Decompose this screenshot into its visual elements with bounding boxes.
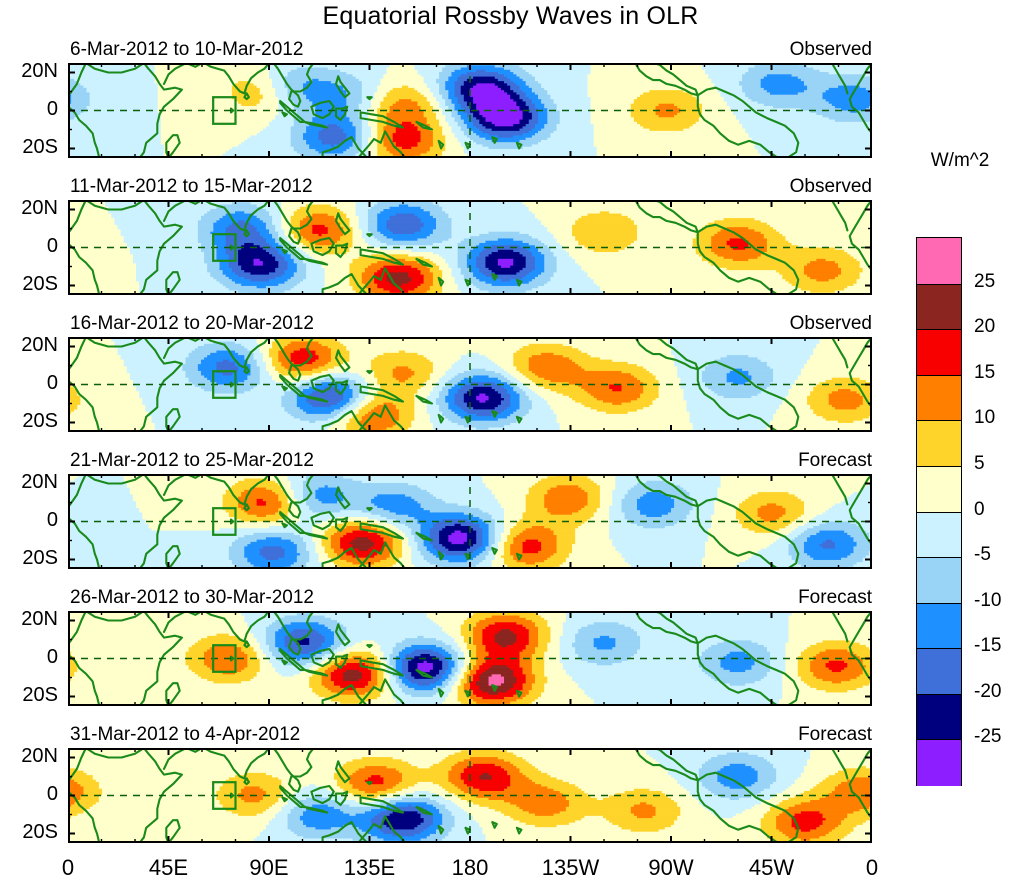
colorbar-ticklabel: 15 — [974, 362, 995, 384]
colorbar-band — [917, 375, 961, 422]
panel-kind-label: Forecast — [0, 587, 872, 609]
x-axis-ticklabel: 0 — [23, 855, 113, 881]
colorbar-band — [917, 284, 961, 331]
figure-root: Equatorial Rossby Waves in OLR 045E90E13… — [0, 0, 1021, 890]
y-axis-ticklabel: 20N — [0, 745, 58, 768]
y-axis-ticklabel: 20N — [0, 608, 58, 631]
map-panel — [68, 611, 872, 706]
map-panel — [68, 63, 872, 158]
colorbar-ticklabel: -15 — [974, 635, 1001, 657]
colorbar-ticklabel: -20 — [974, 681, 1001, 703]
panel-kind-label: Observed — [0, 39, 872, 61]
colorbar-ticklabel: 0 — [974, 499, 985, 521]
colorbar-bands — [916, 237, 962, 786]
y-axis-ticklabel: 20S — [0, 821, 58, 844]
map-panel — [68, 200, 872, 295]
colorbar-ticklabel: -5 — [974, 544, 991, 566]
panel-frame — [68, 611, 872, 706]
x-axis-ticklabel: 180 — [425, 855, 515, 881]
y-axis-ticklabel: 20S — [0, 410, 58, 433]
x-axis-ticklabel: 90E — [224, 855, 314, 881]
y-axis-ticklabel: 20N — [0, 60, 58, 83]
colorbar-ticklabel: 25 — [974, 271, 995, 293]
y-axis-ticklabel: 20S — [0, 684, 58, 707]
y-axis-ticklabel: 20S — [0, 136, 58, 159]
panel-frame — [68, 474, 872, 569]
colorbar-band — [917, 557, 961, 604]
y-axis-ticklabel: 0 — [0, 372, 58, 395]
colorbar-ticklabel: 5 — [974, 453, 985, 475]
panel-frame — [68, 337, 872, 432]
colorbar-band — [917, 329, 961, 376]
colorbar-band — [917, 512, 961, 559]
colorbar-ticklabel: -25 — [974, 726, 1001, 748]
panel-kind-label: Observed — [0, 176, 872, 198]
colorbar-band — [917, 648, 961, 695]
y-axis-ticklabel: 0 — [0, 98, 58, 121]
y-axis-ticklabel: 0 — [0, 783, 58, 806]
colorbar-unit-label: W/m^2 — [905, 150, 1015, 172]
x-axis-ticklabel: 90W — [626, 855, 716, 881]
panel-frame — [68, 748, 872, 843]
x-axis-ticklabel: 45W — [727, 855, 817, 881]
x-axis-ticklabel: 0 — [827, 855, 917, 881]
x-axis-ticklabel: 135W — [526, 855, 616, 881]
colorbar-band — [917, 420, 961, 467]
y-axis-ticklabel: 20N — [0, 471, 58, 494]
y-axis-ticklabel: 20N — [0, 197, 58, 220]
map-panel — [68, 474, 872, 569]
panel-frame — [68, 200, 872, 295]
y-axis-ticklabel: 20S — [0, 547, 58, 570]
y-axis-ticklabel: 0 — [0, 646, 58, 669]
panel-kind-label: Forecast — [0, 724, 872, 746]
colorbar-band — [917, 603, 961, 650]
panel-kind-label: Forecast — [0, 450, 872, 472]
y-axis-ticklabel: 0 — [0, 509, 58, 532]
colorbar-band — [917, 466, 961, 513]
x-axis-ticklabel: 135E — [325, 855, 415, 881]
y-axis-ticklabel: 0 — [0, 235, 58, 258]
y-axis-ticklabel: 20S — [0, 273, 58, 296]
panel-kind-label: Observed — [0, 313, 872, 335]
map-panel — [68, 748, 872, 843]
panel-frame — [68, 63, 872, 158]
colorbar-band — [917, 694, 961, 741]
colorbar-ticklabel: -10 — [974, 590, 1001, 612]
colorbar-ticklabel: 20 — [974, 316, 995, 338]
y-axis-ticklabel: 20N — [0, 334, 58, 357]
colorbar-band — [917, 238, 961, 284]
map-panel — [68, 337, 872, 432]
colorbar-ticklabel: 10 — [974, 407, 995, 429]
x-axis-ticklabel: 45E — [124, 855, 214, 881]
colorbar-band — [917, 739, 961, 786]
figure-title: Equatorial Rossby Waves in OLR — [0, 2, 1021, 31]
